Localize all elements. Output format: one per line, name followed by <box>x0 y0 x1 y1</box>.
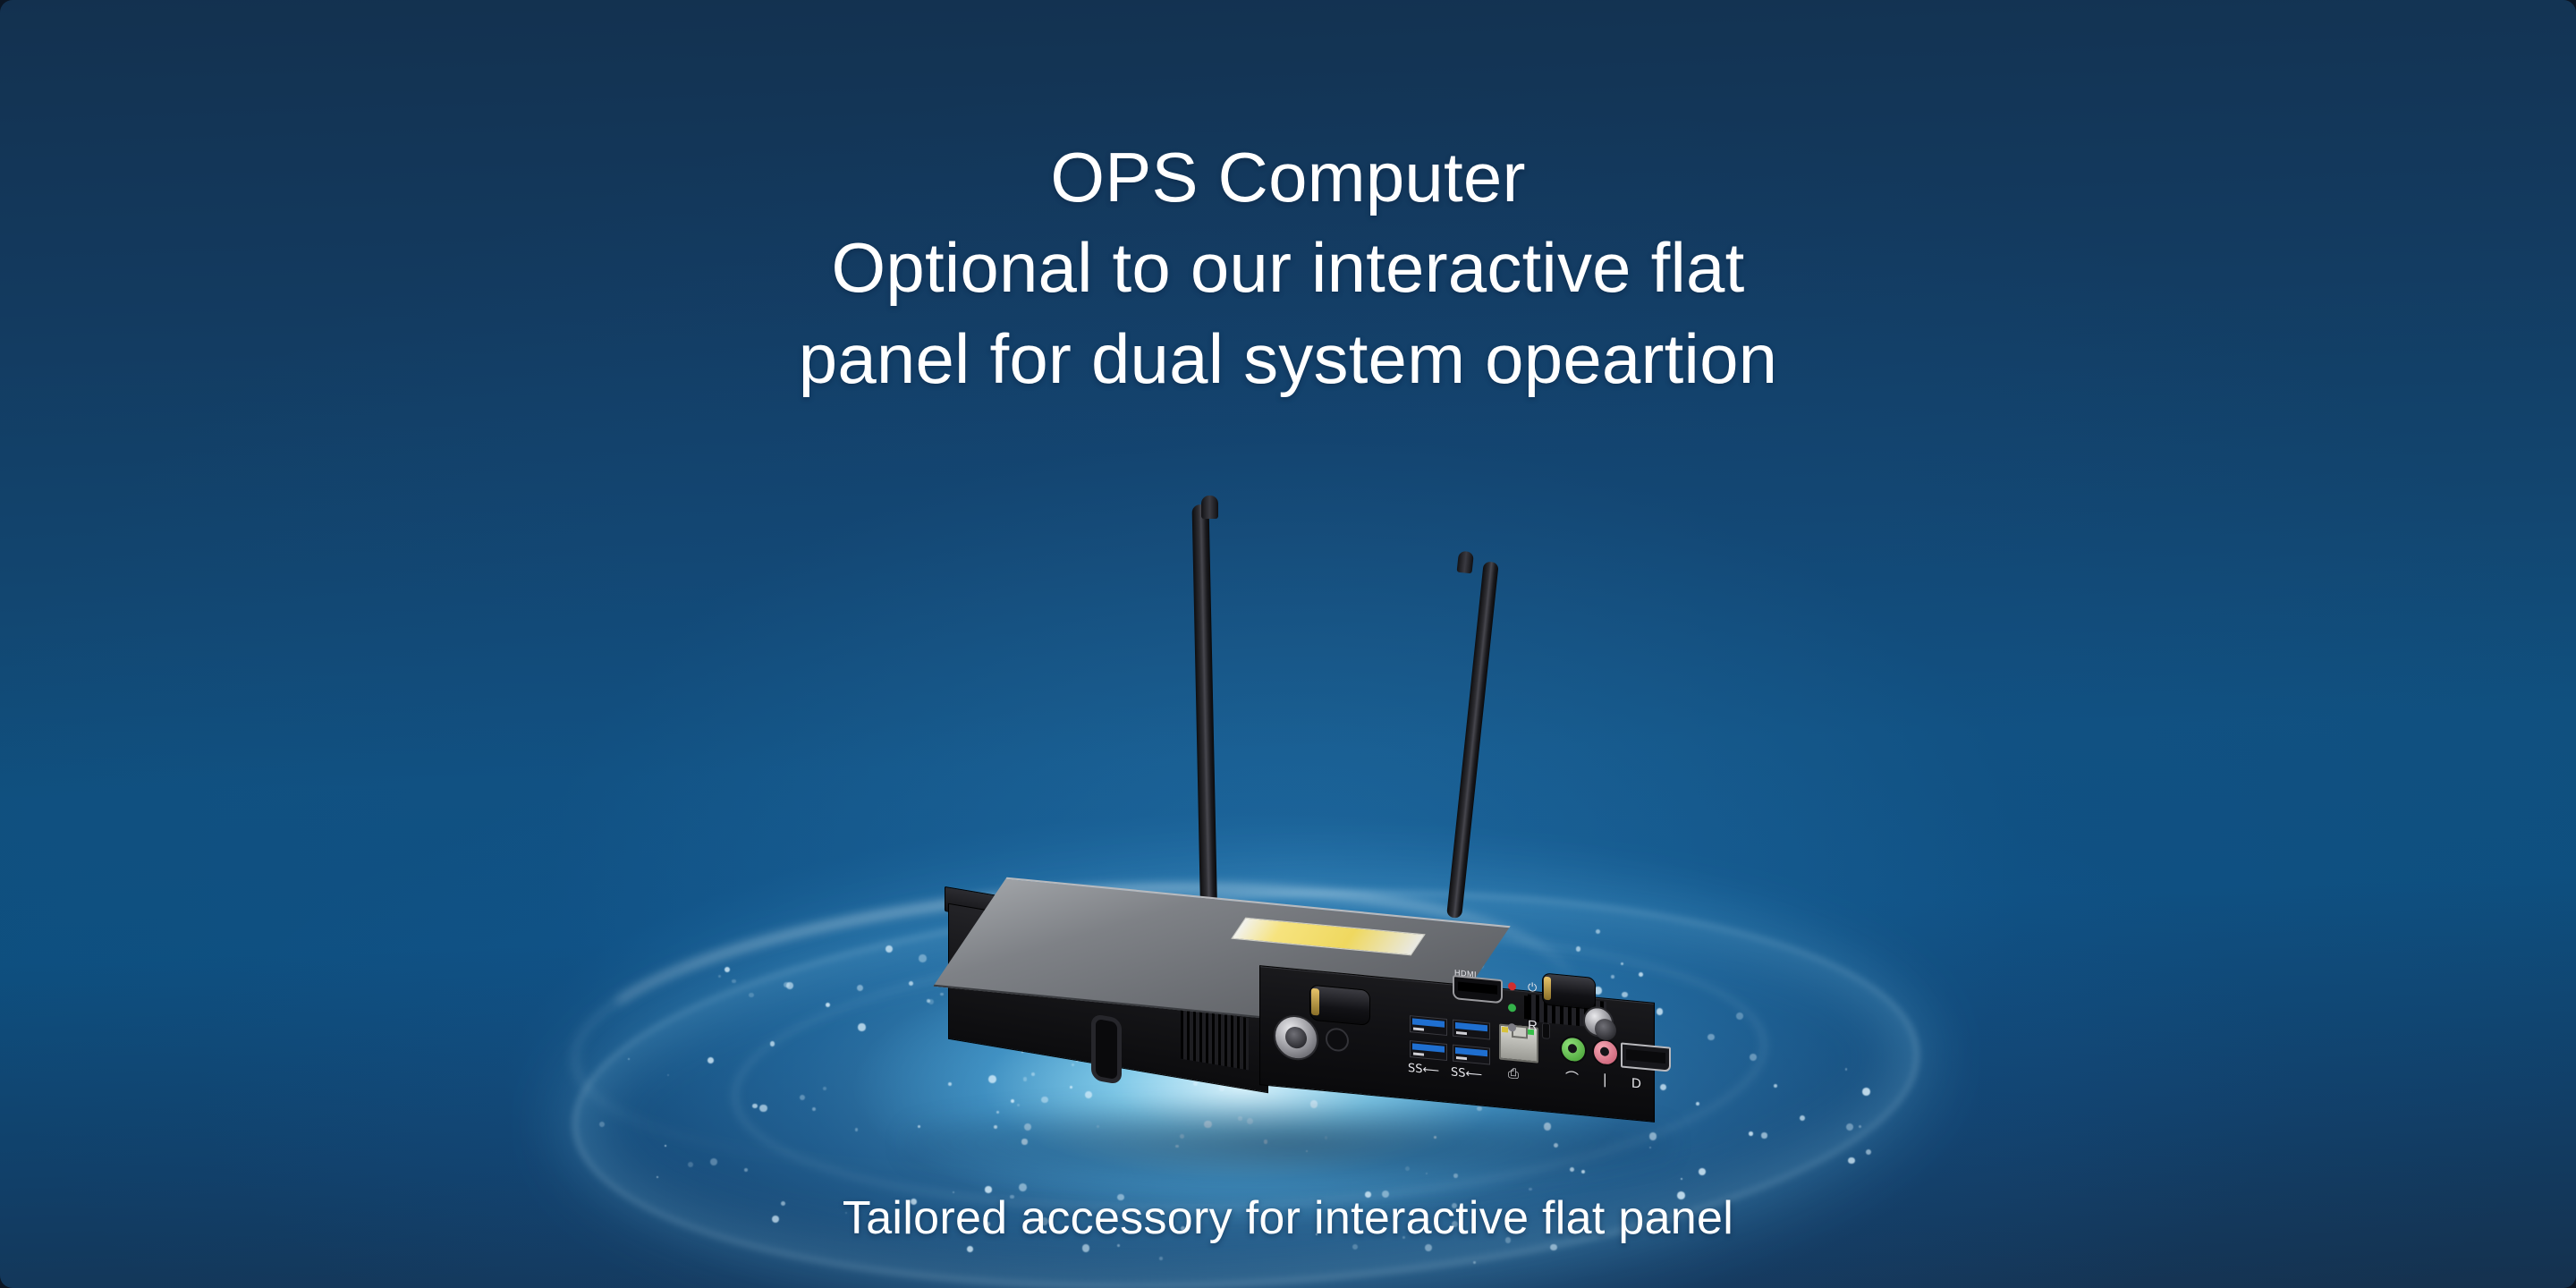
headline-line-1: OPS Computer <box>0 132 2576 223</box>
page-title: OPS Computer Optional to our interactive… <box>0 132 2576 404</box>
right-sma-connector[interactable] <box>1583 1005 1614 1038</box>
right-antenna <box>1446 561 1499 919</box>
reset-button-label[interactable]: R <box>1528 1018 1538 1034</box>
power-led <box>1508 982 1516 991</box>
hdmi-port[interactable] <box>1453 975 1503 1004</box>
slide-canvas: OPS Computer Optional to our interactive… <box>0 0 2576 1288</box>
slide-caption: Tailored accessory for interactive flat … <box>0 1191 2576 1245</box>
left-antenna <box>1192 504 1218 952</box>
headline-line-2: Optional to our interactive flat <box>0 223 2576 313</box>
left-antenna-tip <box>1201 496 1218 519</box>
status-led <box>1508 1004 1516 1013</box>
hdmi-led-group: HDMI R ⏻ <box>1449 962 1646 1106</box>
right-antenna-tip <box>1457 551 1474 574</box>
right-antenna-gold-ring <box>1544 977 1551 1001</box>
carry-handle <box>1091 1013 1122 1085</box>
reset-led <box>1508 1023 1516 1032</box>
power-icon: ⏻ <box>1528 980 1537 996</box>
headline-line-3: panel for dual system opeartion <box>0 314 2576 404</box>
